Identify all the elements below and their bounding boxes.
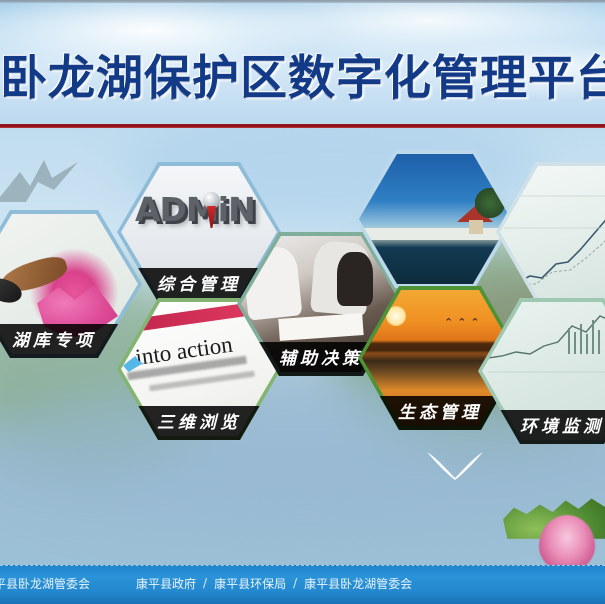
footer-links: 康平县政府 / 康平县环保局 / 康平县卧龙湖管委会 <box>136 575 412 592</box>
seagull-icon <box>425 448 485 482</box>
header-top-edge <box>0 0 605 3</box>
footer-link-wolonghu-committee[interactable]: 康平县卧龙湖管委会 <box>304 575 412 592</box>
footer-owner-text: 康平县卧龙湖管委会 <box>0 575 90 592</box>
page-title: 卧龙湖保护区数字化管理平台 <box>0 51 605 109</box>
hex-label-env-monitoring: 环境监测 <box>478 410 605 444</box>
page-root: 卧龙湖保护区数字化管理平台 湖库专项 ADMiN <box>0 0 605 604</box>
hex-image-chart-report <box>500 166 605 298</box>
flying-birds-icon: ⌃⌃⌃ <box>444 316 490 328</box>
report-line-chart <box>500 166 605 298</box>
footer-separator-1: / <box>203 576 207 590</box>
hex-navigation-collage: 湖库专项 ADMiN 综合管理 into action 三维浏览 <box>0 128 605 565</box>
meeting-documents <box>278 313 363 341</box>
person-hair <box>337 252 373 306</box>
flying-bird-icon <box>0 156 80 216</box>
sun <box>386 306 406 326</box>
admin-wordmark: ADMiN <box>135 190 263 232</box>
hex-tile-chart-report[interactable] <box>496 162 605 302</box>
footer-content-row: 康平县卧龙湖管委会 康平县政府 / 康平县环保局 / 康平县卧龙湖管委会 <box>0 574 605 592</box>
pavilion-body <box>469 220 483 234</box>
footer-bar: 康平县卧龙湖管委会 康平县政府 / 康平县环保局 / 康平县卧龙湖管委会 <box>0 565 605 604</box>
hex-image-lake-scenery <box>359 154 511 284</box>
footer-separator-2: / <box>293 576 297 590</box>
lake-embankment <box>359 228 511 240</box>
tree-canopy <box>475 188 505 218</box>
hex-label-lake-reservoir: 湖库专项 <box>0 324 142 358</box>
footer-link-epb[interactable]: 康平县环保局 <box>214 575 286 592</box>
hex-label-three-d-browse: 三维浏览 <box>117 406 281 440</box>
footer-link-county-government[interactable]: 康平县政府 <box>136 575 196 592</box>
